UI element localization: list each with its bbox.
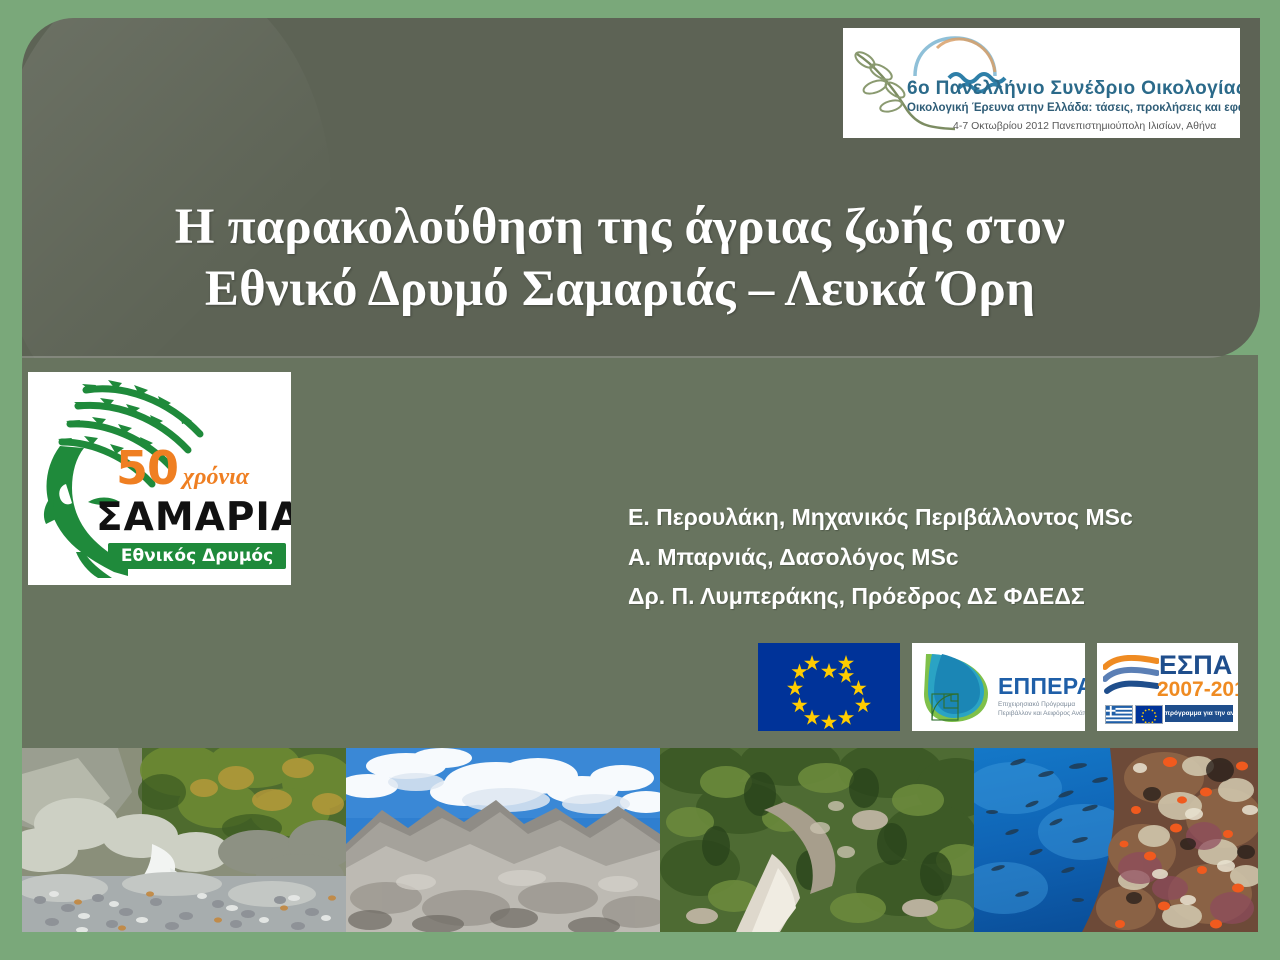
epperaa-logo: ΕΠΠΕΡΑΑ Επιχειρησιακό Πρόγραμμα Περιβάλλ… bbox=[912, 643, 1085, 731]
presentation-slide: Η παρακολούθηση της άγριας ζωής στον Εθν… bbox=[0, 0, 1280, 960]
author-2: Α. Μπαρνιάς, Δασολόγος MSc bbox=[628, 538, 1248, 578]
greek-flag-icon bbox=[1105, 705, 1133, 724]
conference-title: 6ο Πανελλήνιο Συνέδριο Οικολογίας bbox=[907, 78, 1237, 100]
samaria-anniversary-word: χρόνια bbox=[183, 464, 249, 491]
photo-strip bbox=[22, 748, 1258, 932]
samaria-park-type: Εθνικός Δρυμός bbox=[108, 543, 286, 569]
white-mountains-image bbox=[346, 748, 660, 932]
photo-gorge-stream bbox=[22, 748, 346, 932]
epperaa-subtitle-line-2: Περιβάλλον και Αειφόρος Ανάπτυξη bbox=[998, 710, 1085, 717]
author-3: Δρ. Π. Λυμπεράκης, Πρόεδρος ΔΣ ΦΔΕΔΣ bbox=[628, 577, 1248, 617]
forested-valley-image bbox=[660, 748, 974, 932]
funding-logos: ΕΠΠΕΡΑΑ Επιχειρησιακό Πρόγραμμα Περιβάλλ… bbox=[758, 643, 1238, 731]
conference-date-place: 4-7 Οκτωβρίου 2012 Πανεπιστημιούπολη Ιλι… bbox=[953, 120, 1240, 132]
samaria-anniversary-number: 50 bbox=[116, 445, 178, 491]
page-title: Η παρακολούθηση της άγριας ζωής στον Εθν… bbox=[60, 196, 1180, 320]
bottom-border-band bbox=[0, 932, 1280, 960]
samaria-park-name: ΣΑΜΑΡΙΑ bbox=[96, 498, 291, 537]
underwater-reef-image bbox=[974, 748, 1258, 932]
espa-waves-icon bbox=[1103, 655, 1159, 697]
eu-mini-flag-icon bbox=[1135, 705, 1163, 724]
photo-underwater-reef bbox=[974, 748, 1258, 932]
photo-forested-valley bbox=[660, 748, 974, 932]
photo-white-mountains bbox=[346, 748, 660, 932]
samaria-national-park-logo: 50 χρόνια ΣΑΜΑΡΙΑ Εθνικός Δρυμός bbox=[28, 372, 291, 585]
eu-flag-icon bbox=[758, 643, 900, 731]
espa-tagline: πρόγραμμα για την ανάπτυξη bbox=[1165, 705, 1233, 722]
conference-logo: 6ο Πανελλήνιο Συνέδριο Οικολογίας Οικολο… bbox=[843, 28, 1240, 138]
authors-list: Ε. Περουλάκη, Μηχανικός Περιβάλλοντος MS… bbox=[628, 498, 1248, 617]
epperaa-name: ΕΠΠΕΡΑΑ bbox=[998, 673, 1085, 700]
panel-edge-highlight bbox=[22, 356, 1260, 358]
eu-flag-logo bbox=[758, 643, 900, 731]
conference-subtitle: Οικολογική Έρευνα στην Ελλάδα: τάσεις, π… bbox=[907, 102, 1240, 114]
espa-years: 2007-2013 bbox=[1157, 679, 1238, 700]
gorge-stream-image bbox=[22, 748, 346, 932]
author-1: Ε. Περουλάκη, Μηχανικός Περιβάλλοντος MS… bbox=[628, 498, 1248, 538]
water-droplet-spiral-icon bbox=[918, 648, 994, 726]
espa-logo: ΕΣΠΑ 2007-2013 bbox=[1097, 643, 1238, 731]
title-line-1: Η παρακολούθηση της άγριας ζωής στον bbox=[60, 196, 1180, 258]
epperaa-subtitle-line-1: Επιχειρησιακό Πρόγραμμα bbox=[998, 701, 1075, 708]
title-line-2: Εθνικό Δρυμό Σαμαριάς – Λευκά Όρη bbox=[60, 258, 1180, 320]
espa-name: ΕΣΠΑ bbox=[1159, 652, 1232, 679]
